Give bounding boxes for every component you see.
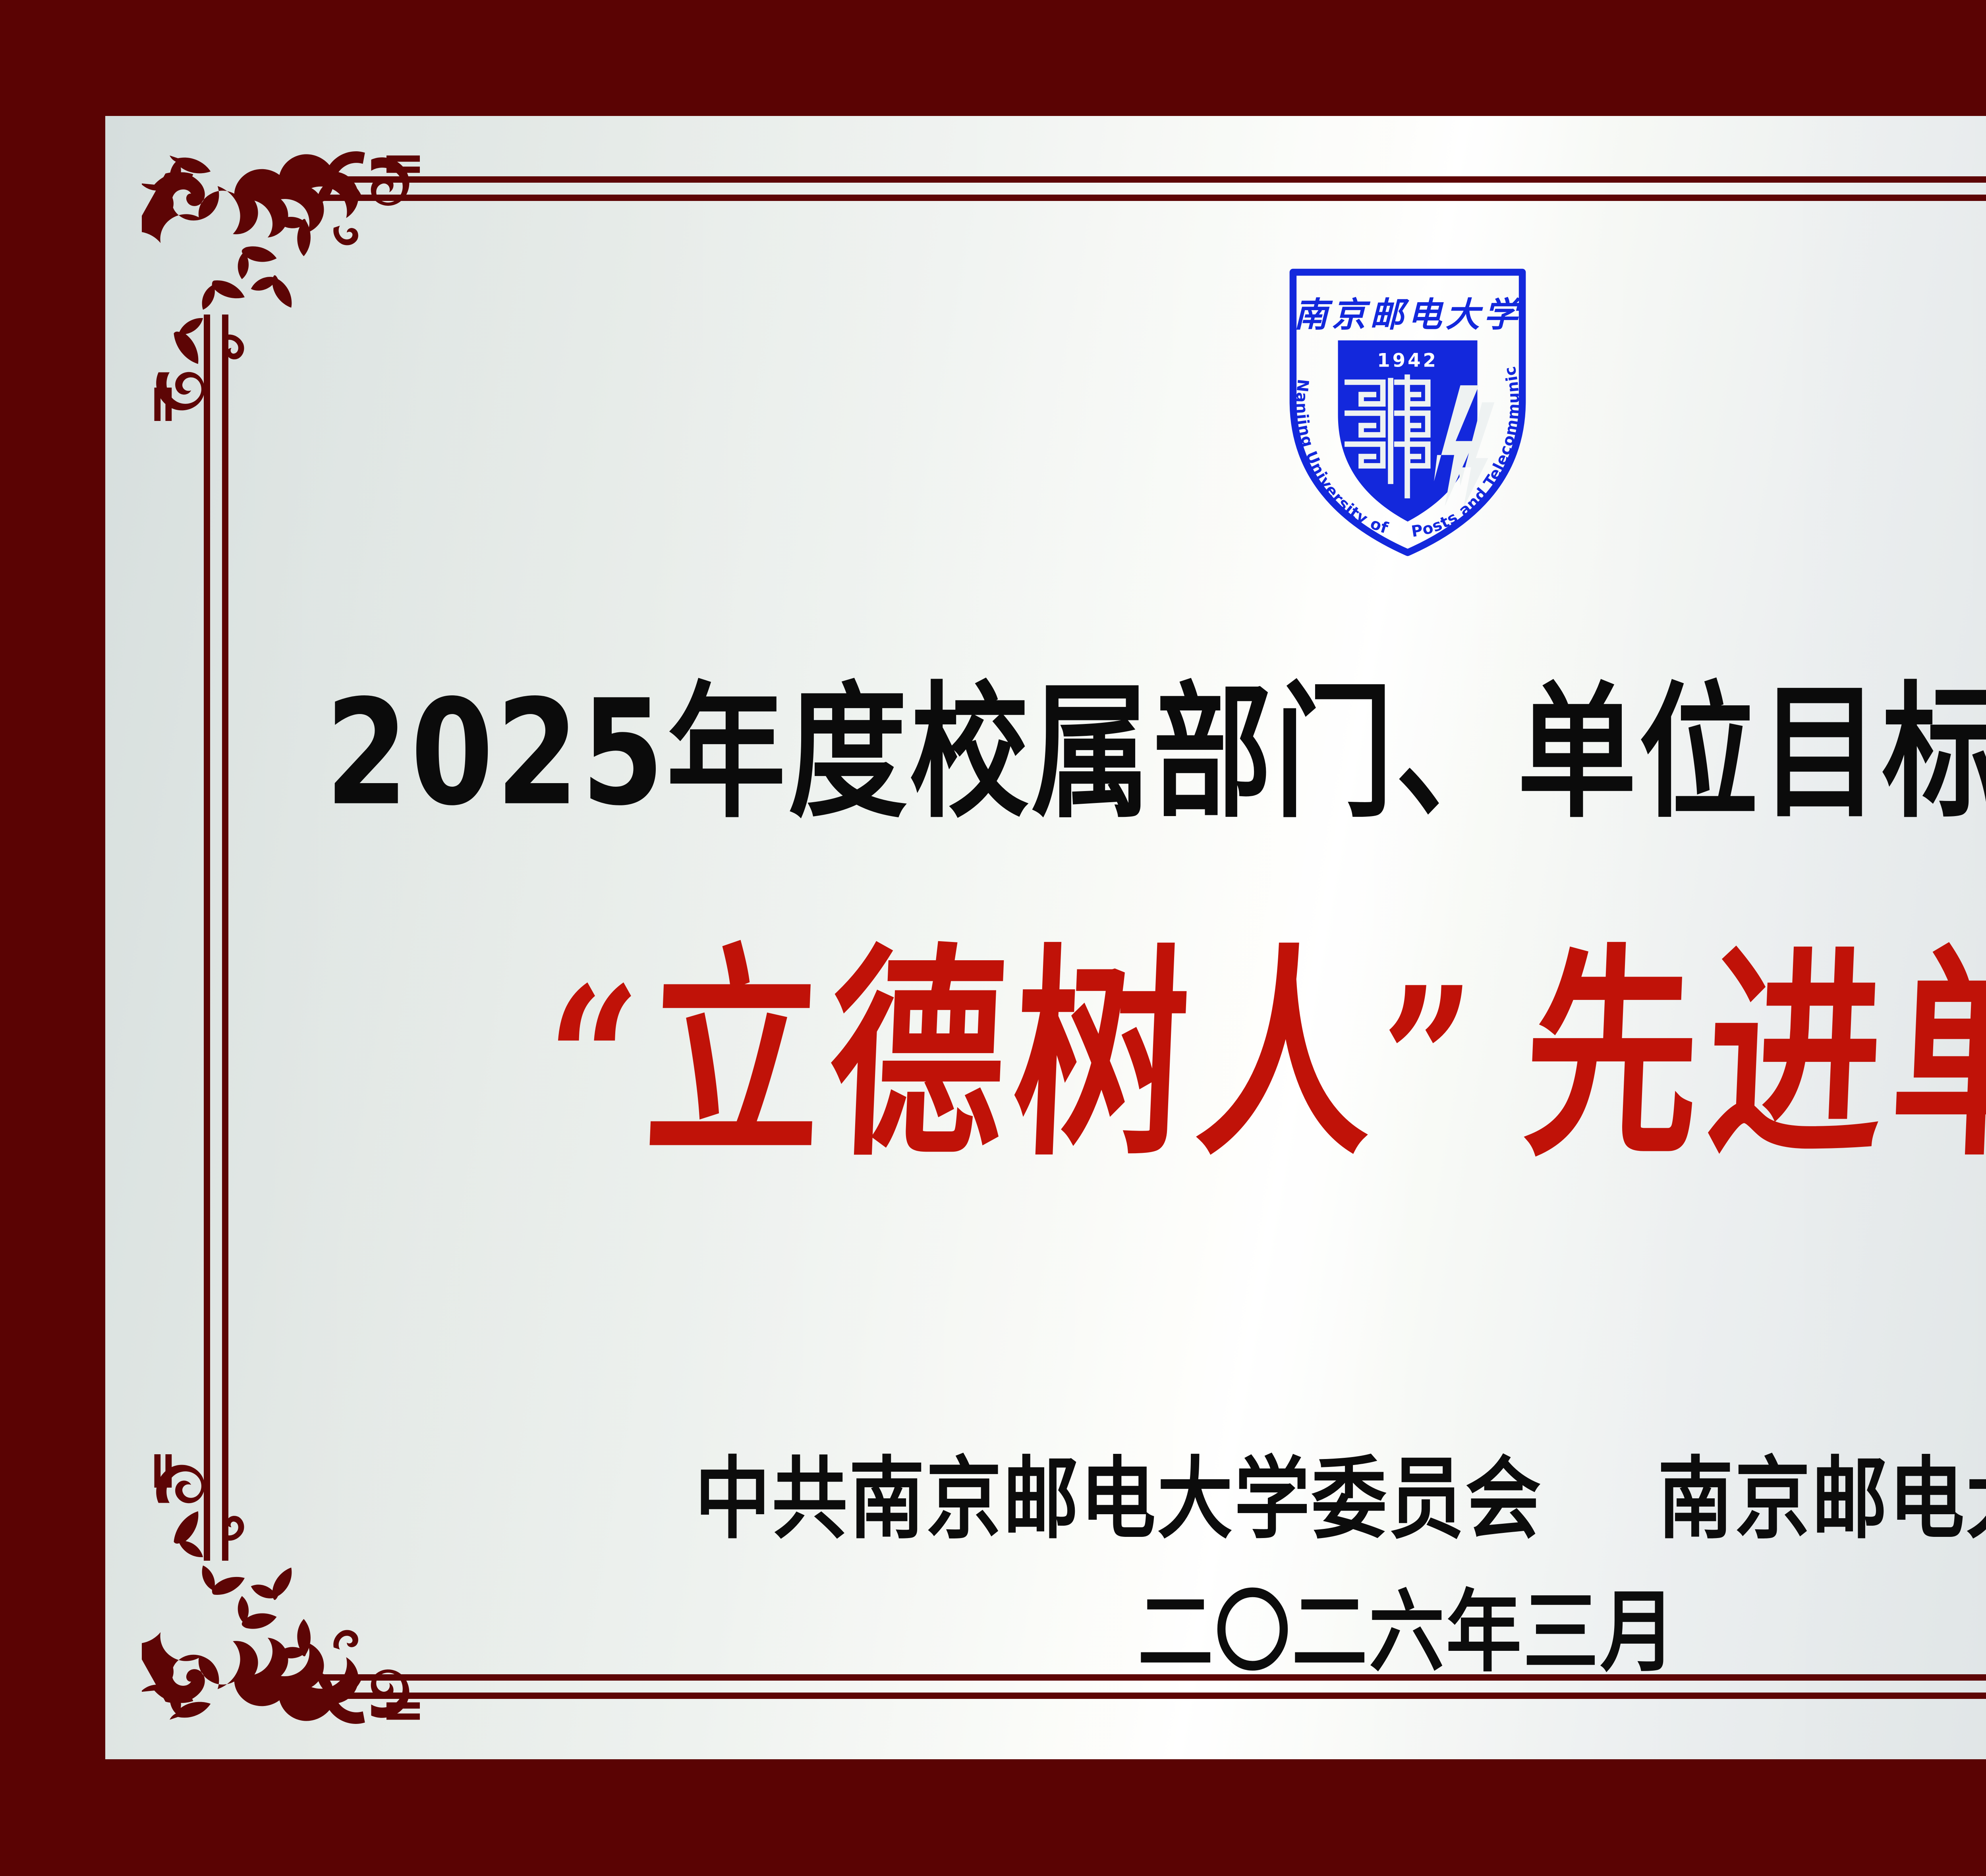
rule-top-inner bbox=[304, 195, 1986, 201]
issuer-row: 中共南京邮电大学委员会南京邮电大学 bbox=[105, 1448, 1986, 1551]
plaque-inner-plate: 南京邮电大学 1942 bbox=[105, 116, 1986, 1759]
issuer-university: 南京邮电大学 bbox=[1658, 1448, 1986, 1551]
university-crest-icon: 南京邮电大学 1942 bbox=[1249, 249, 1567, 559]
award-open-quote: “ bbox=[541, 943, 651, 1182]
award-close-quote: ” bbox=[1376, 943, 1486, 1182]
svg-text:1942: 1942 bbox=[1377, 350, 1438, 371]
rule-top-outer bbox=[304, 176, 1986, 183]
issue-date: 二〇二六年三月 bbox=[105, 1581, 1986, 1684]
award-name: “立德树人”先进单位 bbox=[105, 934, 1986, 1175]
award-phrase: 立德树人 bbox=[641, 923, 1386, 1186]
issuer-party-committee: 中共南京邮电大学委员会 bbox=[695, 1448, 1542, 1551]
page-title: 2025年度校属部门、单位目标任务考核 bbox=[105, 672, 1986, 835]
award-suffix: 先进单位 bbox=[1519, 923, 1986, 1186]
corner-ornament-top-left bbox=[142, 143, 420, 421]
svg-text:南京邮电大学: 南京邮电大学 bbox=[1294, 295, 1522, 335]
rule-bottom-outer bbox=[304, 1693, 1986, 1699]
award-plaque: 南京邮电大学 1942 bbox=[0, 0, 1986, 1876]
